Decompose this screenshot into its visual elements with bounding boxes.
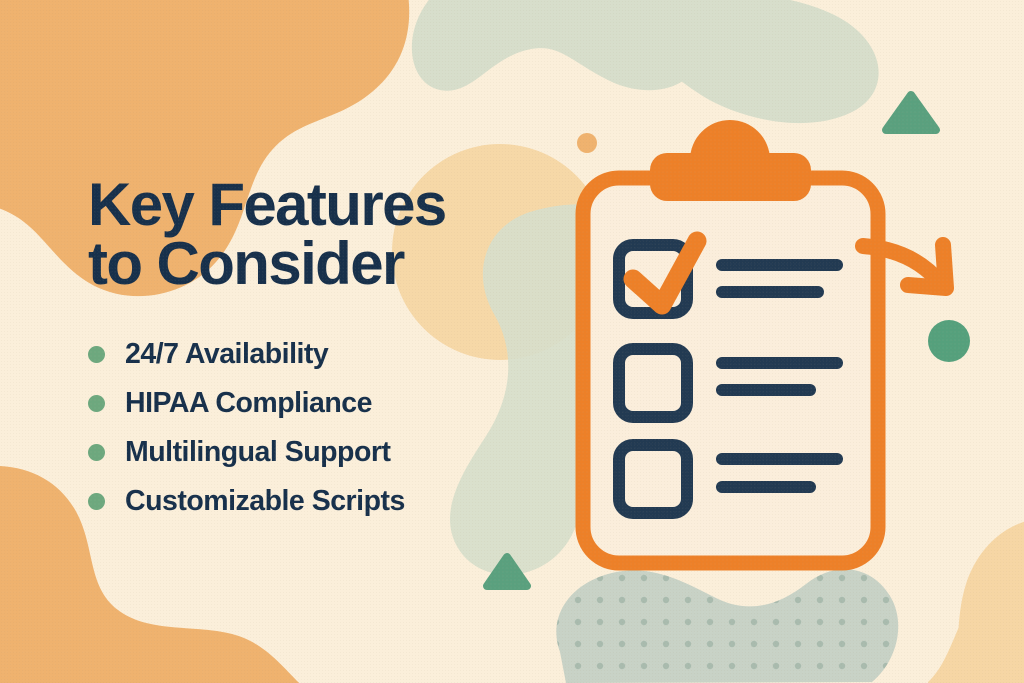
feature-label: HIPAA Compliance [125,387,372,420]
list-item: 24/7 Availability [88,330,528,379]
list-item: Customizable Scripts [88,477,528,526]
bullet-dot-icon [88,346,105,363]
feature-label: Multilingual Support [125,436,390,469]
feature-label: 24/7 Availability [125,338,328,371]
text-content-block: Key Features to Consider 24/7 Availabili… [88,176,528,526]
bullet-dot-icon [88,444,105,461]
clipboard-clip-bar [650,153,811,201]
feature-label: Customizable Scripts [125,485,405,518]
list-item: HIPAA Compliance [88,379,528,428]
promo-graphic-canvas: Key Features to Consider 24/7 Availabili… [0,0,1024,683]
feature-list: 24/7 Availability HIPAA Compliance Multi… [88,330,528,526]
list-item: Multilingual Support [88,428,528,477]
bullet-dot-icon [88,493,105,510]
bullet-dot-icon [88,395,105,412]
page-title: Key Features to Consider [88,176,528,294]
